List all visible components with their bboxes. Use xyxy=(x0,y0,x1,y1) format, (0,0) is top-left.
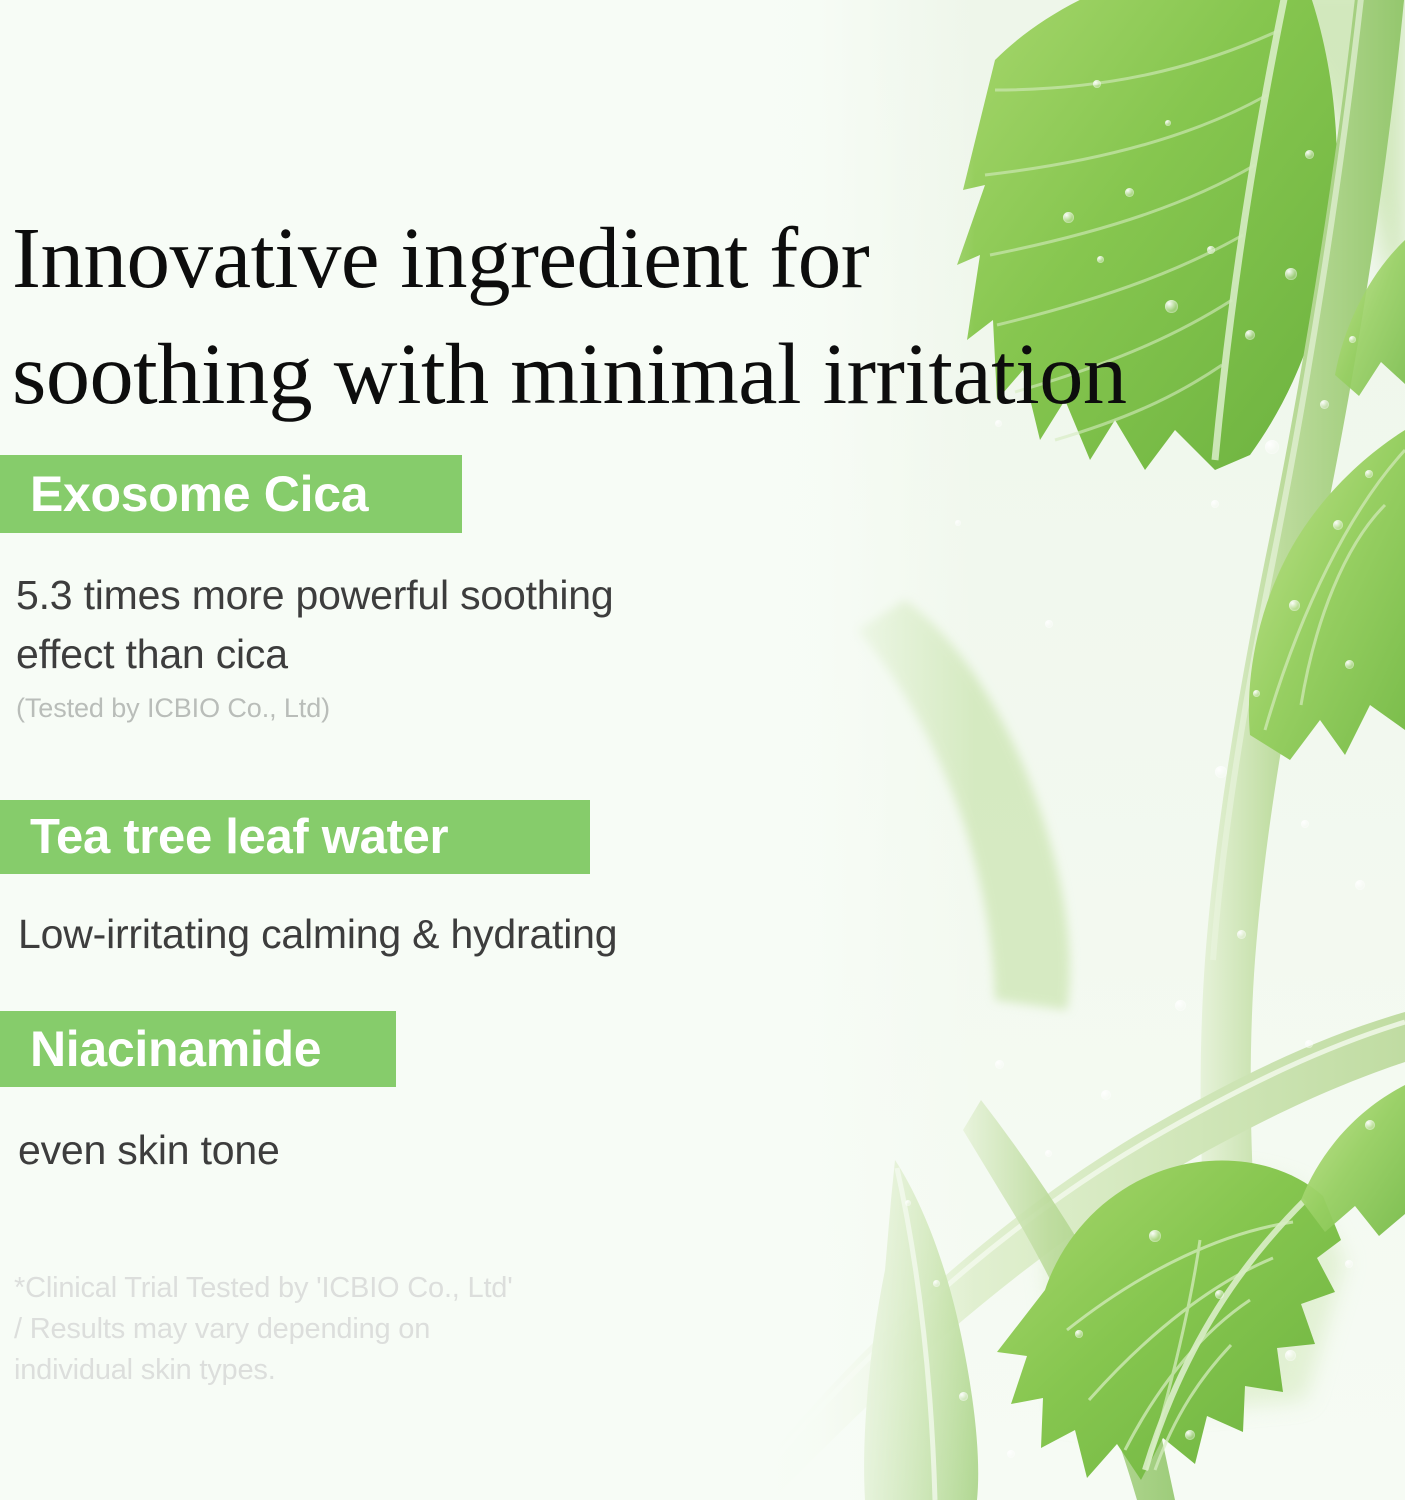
product-ingredient-infographic: Innovative ingredient for soothing with … xyxy=(0,0,1405,1500)
text-content: Innovative ingredient for soothing with … xyxy=(0,0,820,1500)
ingredient-badge-label: Tea tree leaf water xyxy=(30,809,448,865)
ingredient-description-tea-tree-leaf-water: Low-irritating calming & hydrating xyxy=(18,905,778,964)
ingredient-test-note: (Tested by ICBIO Co., Ltd) xyxy=(16,693,330,724)
ingredient-description-niacinamide: even skin tone xyxy=(18,1121,618,1180)
ingredient-badge-tea-tree-leaf-water: Tea tree leaf water xyxy=(0,800,590,874)
headline-line-1: Innovative ingredient for xyxy=(12,200,1312,316)
page-title: Innovative ingredient for soothing with … xyxy=(12,200,1312,431)
ingredient-badge-label: Niacinamide xyxy=(30,1020,321,1078)
ingredient-badge-niacinamide: Niacinamide xyxy=(0,1011,396,1087)
ingredient-badge-exosome-cica: Exosome Cica xyxy=(0,455,462,533)
clinical-trial-disclaimer: *Clinical Trial Tested by 'ICBIO Co., Lt… xyxy=(14,1268,654,1392)
ingredient-description-exosome-cica: 5.3 times more powerful soothing effect … xyxy=(16,566,776,685)
ingredient-badge-label: Exosome Cica xyxy=(30,465,368,523)
headline-line-2: soothing with minimal irritation xyxy=(12,316,1332,432)
